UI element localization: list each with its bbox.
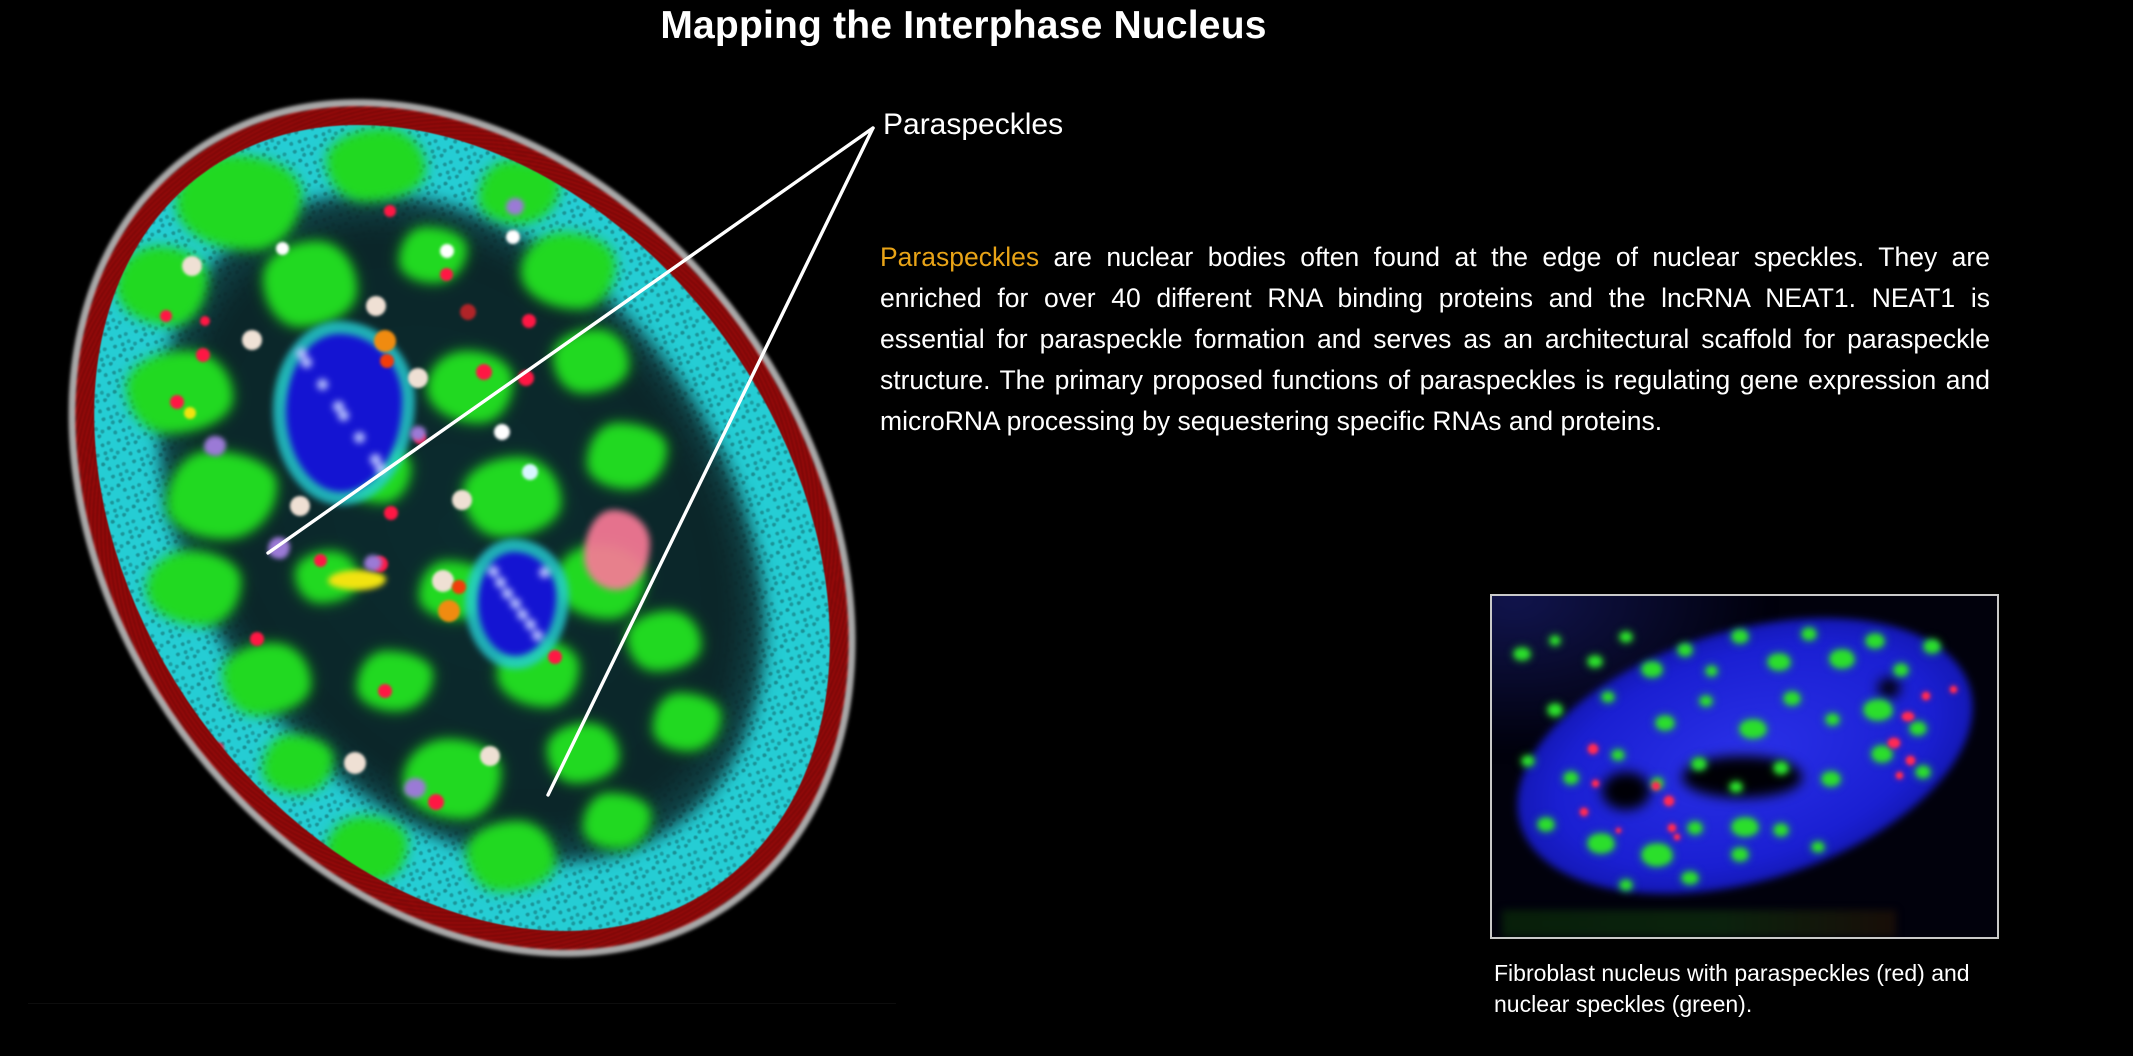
nuclear-body-red <box>384 205 396 217</box>
body-paragraph: Paraspeckles are nuclear bodies often fo… <box>880 237 1990 442</box>
nuclear-body-white <box>506 230 520 244</box>
fibrillar-center <box>317 379 328 390</box>
inset-paraspeckle <box>1652 782 1660 790</box>
nuclear-speckle <box>224 644 310 714</box>
nuclear-speckle <box>588 424 666 488</box>
nuclear-speckle <box>328 818 406 880</box>
fibrillar-center <box>525 619 536 630</box>
nuclear-body-red <box>518 370 534 386</box>
callout-label-paraspeckles: Paraspeckles <box>883 108 1063 142</box>
nuclear-body-red <box>380 354 394 368</box>
inset-paraspeckle <box>1896 772 1903 779</box>
fibrillar-center <box>375 463 386 474</box>
nuclear-body-red <box>548 650 562 664</box>
nucleus-illustration <box>28 52 896 1004</box>
nuclear-speckle <box>464 458 560 536</box>
fibrillar-center <box>517 609 528 620</box>
page-title-text: Mapping the Interphase Nucleus <box>660 4 1266 48</box>
nuclear-body-cream <box>290 496 310 516</box>
inset-paraspeckle <box>1906 756 1915 765</box>
fibrillar-center <box>488 566 499 577</box>
slide-root: Mapping the Interphase Nucleus Paraspeck… <box>0 0 2133 1056</box>
nuclear-speckle <box>128 352 232 432</box>
nuclear-body-cream <box>242 330 262 350</box>
nuclear-body-yellow <box>184 407 196 419</box>
nuclear-body-red <box>314 554 327 567</box>
fibrillar-center <box>354 432 365 443</box>
nuclear-body-cream <box>408 368 428 388</box>
paraspeckle-body <box>404 778 426 798</box>
inset-paraspeckle <box>1902 712 1914 721</box>
inset-caption-text: Fibroblast nucleus with paraspeckles (re… <box>1494 960 1970 1017</box>
nuclear-body-red <box>384 506 398 520</box>
nuclear-speckle <box>628 612 700 670</box>
nuclear-speckle <box>264 736 332 792</box>
highlight-term-paraspeckles: Paraspeckles <box>880 242 1039 272</box>
nuclear-body-cream <box>182 256 202 276</box>
callout-label-text: Paraspeckles <box>883 108 1063 141</box>
nuclear-body-cream <box>480 746 500 766</box>
paraspeckle-body <box>364 555 382 571</box>
nuclear-body-red <box>378 684 392 698</box>
nuclear-speckle <box>428 352 512 422</box>
inset-paraspeckle <box>1888 738 1900 748</box>
nuclear-body-red <box>170 395 184 409</box>
inset-paraspeckle <box>1674 834 1680 840</box>
inset-caption: Fibroblast nucleus with paraspeckles (re… <box>1494 958 2014 1020</box>
fibrillar-center <box>338 410 349 421</box>
nuclear-body-white <box>494 424 510 440</box>
nuclear-body-red <box>440 268 453 281</box>
paraspeckle-body <box>410 426 426 441</box>
nuclear-body-red <box>476 364 492 380</box>
nuclear-speckle <box>584 794 650 848</box>
inset-paraspeckle <box>1922 692 1930 700</box>
inset-paraspeckle <box>1668 824 1676 832</box>
nuclear-body-cream <box>366 296 386 316</box>
inset-paraspeckle <box>1664 796 1674 806</box>
inset-paraspeckles <box>1492 596 1997 937</box>
nuclear-speckle <box>654 694 720 750</box>
page-title: Mapping the Interphase Nucleus <box>0 4 2133 48</box>
paraspeckle-body <box>204 436 226 456</box>
nuclear-body-red <box>522 314 536 328</box>
nuclear-speckle <box>554 330 628 392</box>
nuclear-speckle <box>264 242 356 326</box>
inset-paraspeckle <box>1592 780 1599 787</box>
inset-paraspeckle <box>1616 828 1621 833</box>
paraspeckle-body <box>268 537 290 559</box>
nuclear-speckle <box>400 228 466 282</box>
inset-paraspeckle <box>1580 808 1588 816</box>
inset-paraspeckle <box>1950 686 1957 693</box>
nuclear-body-cream <box>432 570 454 592</box>
cajal-body <box>328 570 386 590</box>
nuclear-body-red <box>160 310 172 322</box>
paraspeckle-body <box>506 198 524 215</box>
nuclear-body-orange <box>438 600 460 622</box>
nuclear-speckle <box>468 822 554 890</box>
nuclear-body-red <box>428 794 444 810</box>
fibrillar-center <box>532 630 543 641</box>
nuclear-body-red <box>250 632 264 646</box>
nuclear-body-red <box>452 580 466 594</box>
nuclear-body-orange <box>374 330 396 352</box>
nuclear-body-red <box>200 316 210 326</box>
fibrillar-center <box>301 357 312 368</box>
nuclear-speckle <box>522 234 614 308</box>
nuclear-body-red <box>196 348 210 362</box>
fibrillar-center <box>510 598 521 609</box>
nuclear-body-white <box>522 464 538 480</box>
nuclear-speckle <box>548 724 618 782</box>
nuclear-body-darkred <box>460 304 476 320</box>
nucleus-body <box>28 52 896 1004</box>
inset-micrograph-image <box>1492 596 1997 937</box>
inset-micrograph-frame <box>1490 594 1999 939</box>
body-paragraph-text: are nuclear bodies often found at the ed… <box>880 242 1990 436</box>
fibrillar-center <box>495 577 506 588</box>
nuclear-speckle <box>168 452 276 538</box>
nuclear-speckle <box>358 652 432 710</box>
inset-paraspeckle <box>1588 744 1598 754</box>
nuclear-body-cream <box>344 752 366 774</box>
nuclear-body-cream <box>452 490 472 510</box>
nuclear-speckle <box>148 552 240 624</box>
nuclear-body-white <box>276 242 289 255</box>
nuclear-body-white <box>440 244 454 258</box>
fibrillar-center <box>502 588 513 599</box>
fibrillar-center <box>539 567 550 578</box>
nuclear-speckle <box>328 130 424 200</box>
